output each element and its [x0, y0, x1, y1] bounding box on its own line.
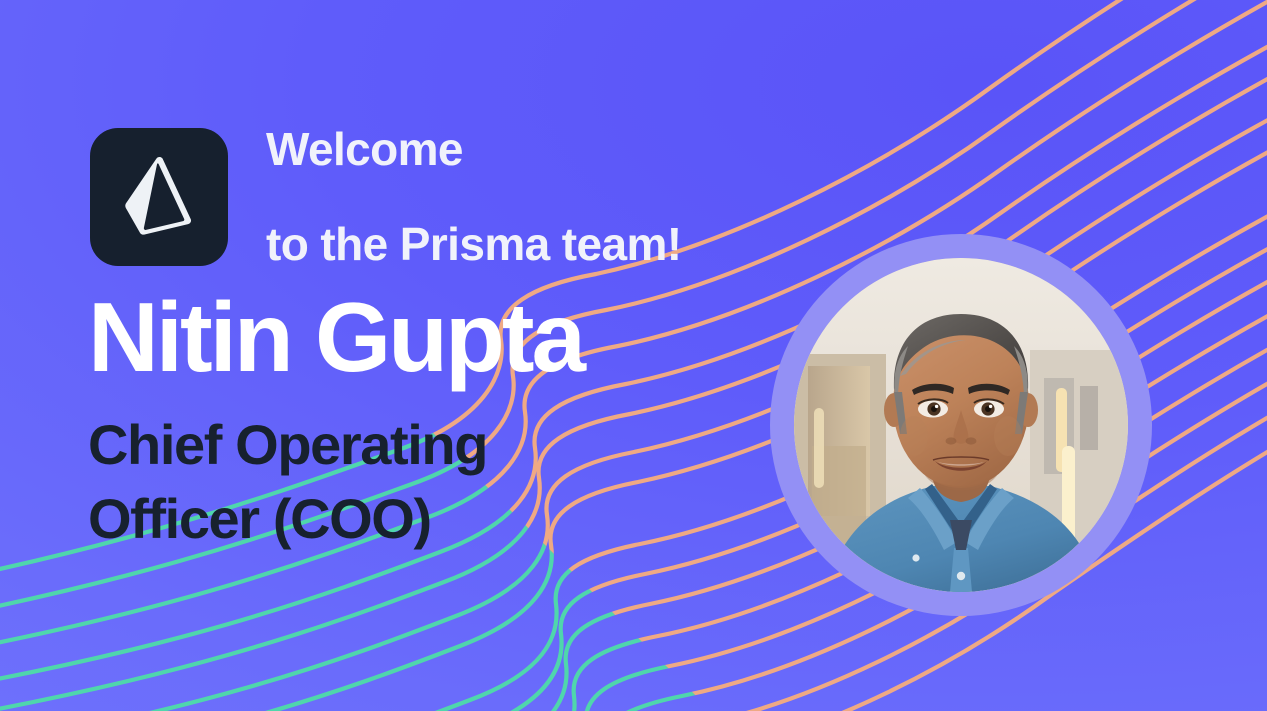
avatar-ring — [770, 234, 1152, 616]
prisma-logo-tile — [90, 128, 228, 266]
welcome-line-2: to the Prisma team! — [266, 221, 682, 268]
avatar-portrait-image — [794, 258, 1128, 592]
welcome-line-1: Welcome — [266, 126, 682, 173]
welcome-heading: Welcome to the Prisma team! — [266, 79, 682, 316]
avatar — [794, 258, 1128, 592]
welcome-announcement-card: Welcome to the Prisma team! Nitin Gupta … — [0, 0, 1267, 711]
card-header: Welcome to the Prisma team! — [90, 79, 682, 316]
person-name: Nitin Gupta — [88, 288, 583, 386]
person-role-line-1: Chief Operating — [88, 413, 487, 476]
person-role: Chief Operating Officer (COO) — [88, 408, 583, 556]
person-details: Nitin Gupta Chief Operating Officer (COO… — [88, 288, 583, 556]
person-role-line-2: Officer (COO) — [88, 487, 431, 550]
prisma-logo-icon — [122, 155, 196, 239]
